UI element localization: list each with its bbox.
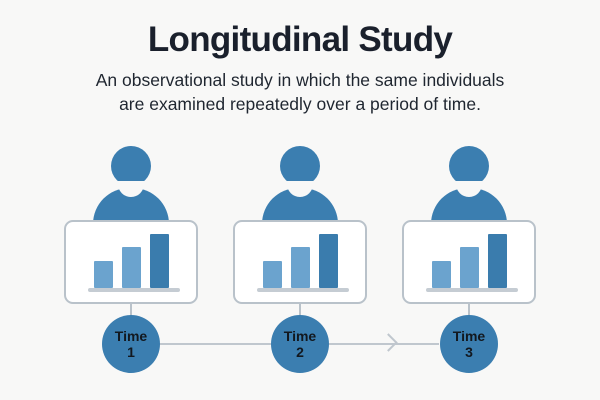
bar-chart-icon-1 [88,232,180,288]
chart-bar-1 [94,261,113,288]
chart-bar-3 [150,234,169,288]
person-head-icon [449,146,489,186]
chart-bar-2 [460,247,479,288]
timeline-node-2-label: Time [284,328,316,344]
header: Longitudinal Study An observational stud… [0,18,600,116]
timeline-node-3-number: 3 [465,344,473,360]
infographic-canvas: Longitudinal Study An observational stud… [0,0,600,400]
page-title: Longitudinal Study [0,18,600,62]
chart-card-3 [402,220,536,304]
person-head-icon [280,146,320,186]
timeline-arrow-icon [379,333,397,351]
chart-bar-1 [432,261,451,288]
chart-card-1 [64,220,198,304]
chart-bar-2 [291,247,310,288]
timeline-node-1-number: 1 [127,344,135,360]
chart-baseline [426,288,518,292]
observation-group-2 [225,144,375,314]
person-icon [225,144,375,224]
timeline-connector-1 [152,343,280,345]
chart-bar-2 [122,247,141,288]
subtitle-line-2: are examined repeatedly over a period of… [65,92,535,116]
timeline-node-time-2: Time 2 [271,315,329,373]
page-subtitle: An observational study in which the same… [65,68,535,116]
timeline-node-time-1: Time 1 [102,315,160,373]
chart-bar-1 [263,261,282,288]
person-icon [56,144,206,224]
person-head-icon [111,146,151,186]
timeline-node-time-3: Time 3 [440,315,498,373]
timeline: Time 1 Time 2 Time 3 [0,315,600,395]
observation-group-3 [394,144,544,314]
subtitle-line-1: An observational study in which the same… [65,68,535,92]
observation-group-1 [56,144,206,314]
chart-baseline [88,288,180,292]
timeline-node-1-label: Time [115,328,147,344]
chart-bar-3 [488,234,507,288]
bar-chart-icon-2 [257,232,349,288]
chart-card-2 [233,220,367,304]
chart-baseline [257,288,349,292]
chart-bar-3 [319,234,338,288]
person-icon [394,144,544,224]
timeline-node-2-number: 2 [296,344,304,360]
timeline-node-3-label: Time [453,328,485,344]
bar-chart-icon-3 [426,232,518,288]
